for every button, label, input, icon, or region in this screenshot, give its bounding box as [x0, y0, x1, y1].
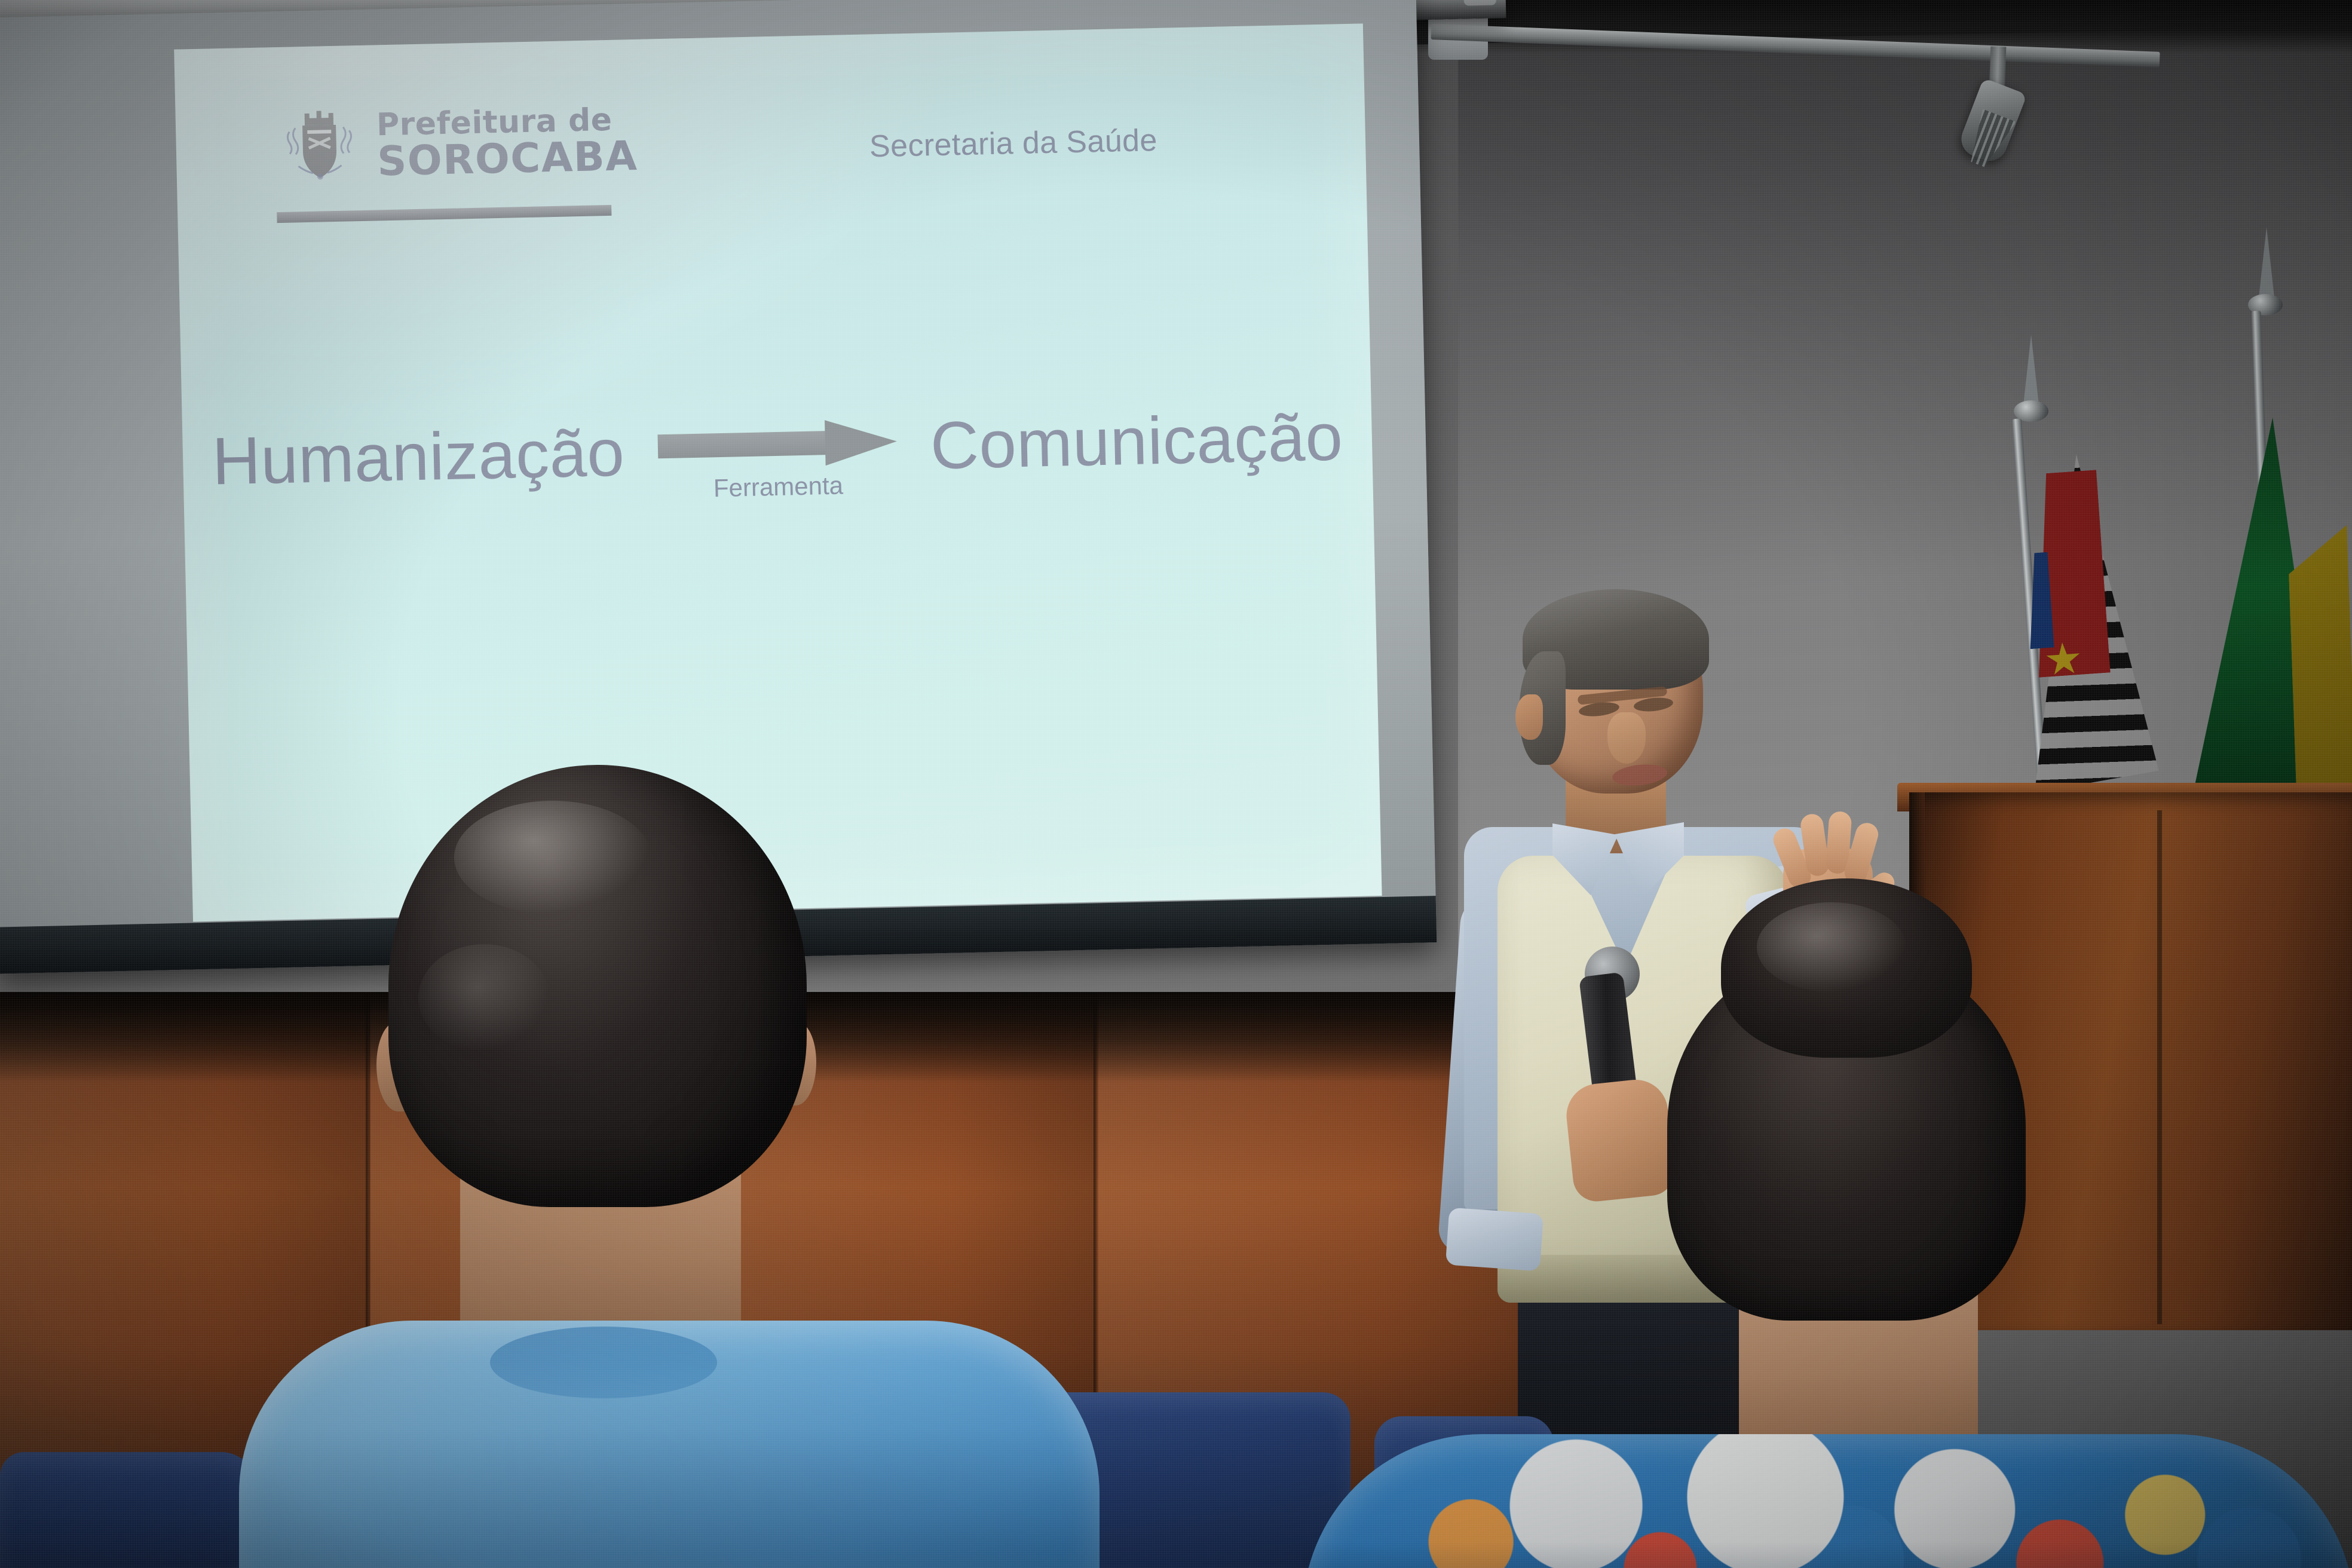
auditorium-presentation-photo: Prefeitura de SOROCABA Secretaria da Saú…	[0, 0, 2352, 1568]
audience-left-tshirt-collar	[490, 1327, 717, 1398]
arrow-caption: Ferramenta	[659, 470, 898, 504]
audience-left-hair-highlight-2	[418, 944, 550, 1052]
audience-left-hair-highlight	[454, 801, 651, 914]
presenter-nose	[1607, 712, 1646, 764]
screen-glare	[174, 23, 1016, 488]
audience-right-hair-highlight	[1757, 902, 1906, 992]
auditorium-chair	[0, 1452, 257, 1568]
sp-flag-pole-tip	[2023, 335, 2039, 405]
audience-member-front-right	[1386, 878, 2352, 1568]
audience-left-shoulder-shading	[239, 1428, 1100, 1568]
roller-end-cap	[1463, 0, 1496, 6]
br-flag-pole-tip	[2259, 227, 2274, 298]
presenter-ear	[1515, 694, 1543, 740]
audience-right-blouse-shading	[1303, 1542, 2352, 1568]
audience-member-front-left	[311, 765, 1100, 1568]
